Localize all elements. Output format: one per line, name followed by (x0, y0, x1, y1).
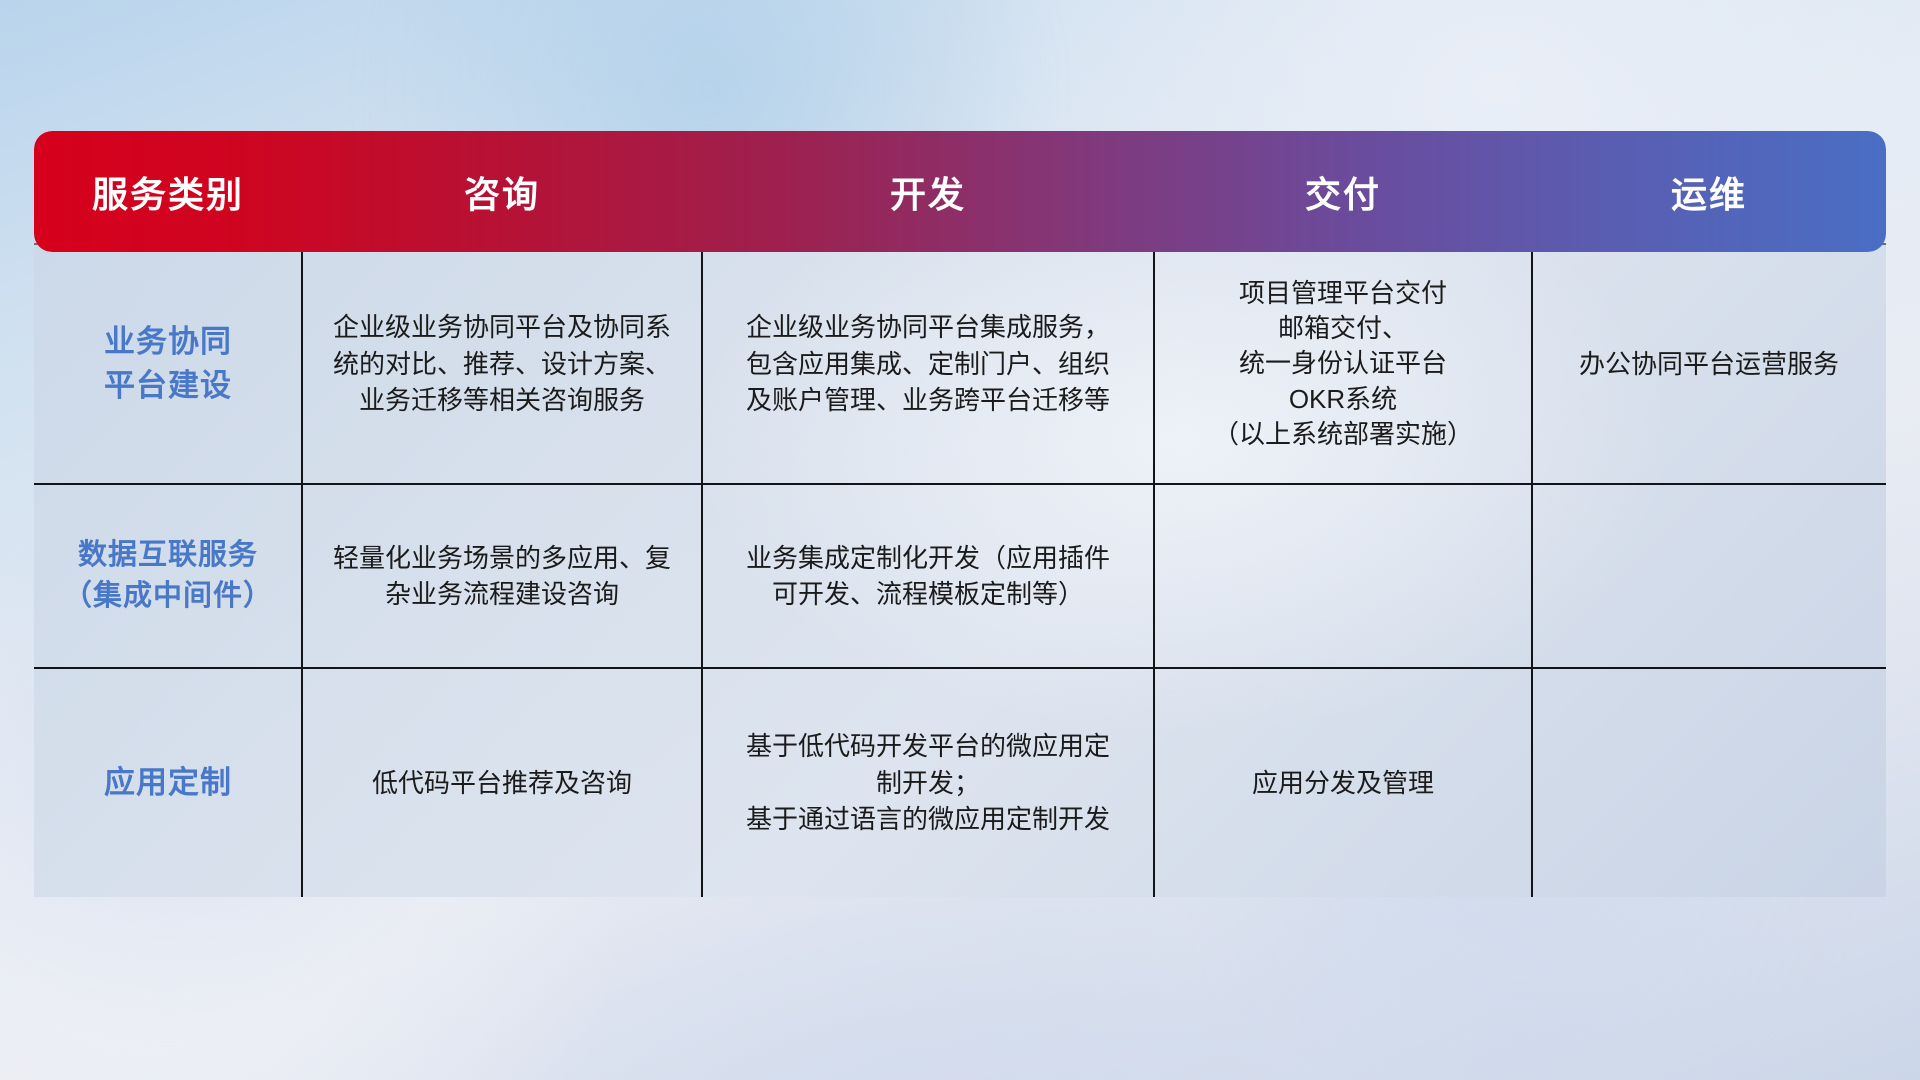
cell-consulting: 企业级业务协同平台及协同系 统的对比、推荐、设计方案、 业务迁移等相关咨询服务 (302, 245, 702, 483)
cell-operations (1532, 669, 1886, 897)
column-header-category: 服务类别 (34, 131, 302, 252)
column-header-category-label: 服务类别 (92, 166, 244, 218)
cell-operations (1532, 485, 1886, 667)
column-header-development: 开发 (702, 131, 1154, 252)
cell-category: 数据互联服务 （集成中间件） (34, 485, 302, 667)
table-row: 业务协同 平台建设 企业级业务协同平台及协同系 统的对比、推荐、设计方案、 业务… (34, 245, 1886, 483)
cell-delivery: 应用分发及管理 (1154, 669, 1532, 897)
cell-text: 轻量化业务场景的多应用、复 杂业务流程建设咨询 (333, 540, 671, 613)
table-row: 数据互联服务 （集成中间件） 轻量化业务场景的多应用、复 杂业务流程建设咨询 业… (34, 483, 1886, 667)
cell-development: 基于低代码开发平台的微应用定 制开发； 基于通过语言的微应用定制开发 (702, 669, 1154, 897)
cell-consulting: 轻量化业务场景的多应用、复 杂业务流程建设咨询 (302, 485, 702, 667)
cell-text: 企业级业务协同平台集成服务， 包含应用集成、定制门户、组织 及账户管理、业务跨平… (746, 309, 1110, 418)
table-body: 业务协同 平台建设 企业级业务协同平台及协同系 统的对比、推荐、设计方案、 业务… (34, 243, 1886, 897)
cell-operations: 办公协同平台运营服务 (1532, 245, 1886, 483)
column-header-operations: 运维 (1532, 131, 1886, 252)
column-header-operations-label: 运维 (1671, 166, 1747, 218)
cell-text: 业务集成定制化开发（应用插件 可开发、流程模板定制等） (746, 540, 1110, 613)
column-header-development-label: 开发 (890, 166, 966, 218)
cell-category: 业务协同 平台建设 (34, 245, 302, 483)
cell-text: 办公协同平台运营服务 (1579, 346, 1839, 382)
category-label: 数据互联服务 （集成中间件） (63, 535, 273, 617)
category-label: 业务协同 平台建设 (104, 320, 232, 408)
cell-delivery: 项目管理平台交付 邮箱交付、 统一身份认证平台 OKR系统 （以上系统部署实施） (1154, 245, 1532, 483)
column-header-consulting: 咨询 (302, 131, 702, 252)
cell-text: 项目管理平台交付 邮箱交付、 统一身份认证平台 OKR系统 （以上系统部署实施） (1213, 276, 1473, 453)
cell-category: 应用定制 (34, 669, 302, 897)
cell-text: 基于低代码开发平台的微应用定 制开发； 基于通过语言的微应用定制开发 (746, 728, 1110, 837)
column-header-delivery-label: 交付 (1305, 166, 1381, 218)
cell-delivery (1154, 485, 1532, 667)
cell-text: 应用分发及管理 (1252, 765, 1434, 801)
table-header-row: 服务类别 咨询 开发 交付 运维 (34, 131, 1886, 252)
column-header-delivery: 交付 (1154, 131, 1532, 252)
cell-text: 企业级业务协同平台及协同系 统的对比、推荐、设计方案、 业务迁移等相关咨询服务 (333, 309, 671, 418)
cell-consulting: 低代码平台推荐及咨询 (302, 669, 702, 897)
cell-text: 低代码平台推荐及咨询 (372, 765, 632, 801)
cell-development: 企业级业务协同平台集成服务， 包含应用集成、定制门户、组织 及账户管理、业务跨平… (702, 245, 1154, 483)
table-row: 应用定制 低代码平台推荐及咨询 基于低代码开发平台的微应用定 制开发； 基于通过… (34, 667, 1886, 897)
category-label: 应用定制 (104, 761, 232, 805)
cell-development: 业务集成定制化开发（应用插件 可开发、流程模板定制等） (702, 485, 1154, 667)
service-matrix-table: 服务类别 咨询 开发 交付 运维 业务协同 平台建设 企业级业务协同平台及协同系… (34, 131, 1886, 953)
column-header-consulting-label: 咨询 (464, 166, 540, 218)
